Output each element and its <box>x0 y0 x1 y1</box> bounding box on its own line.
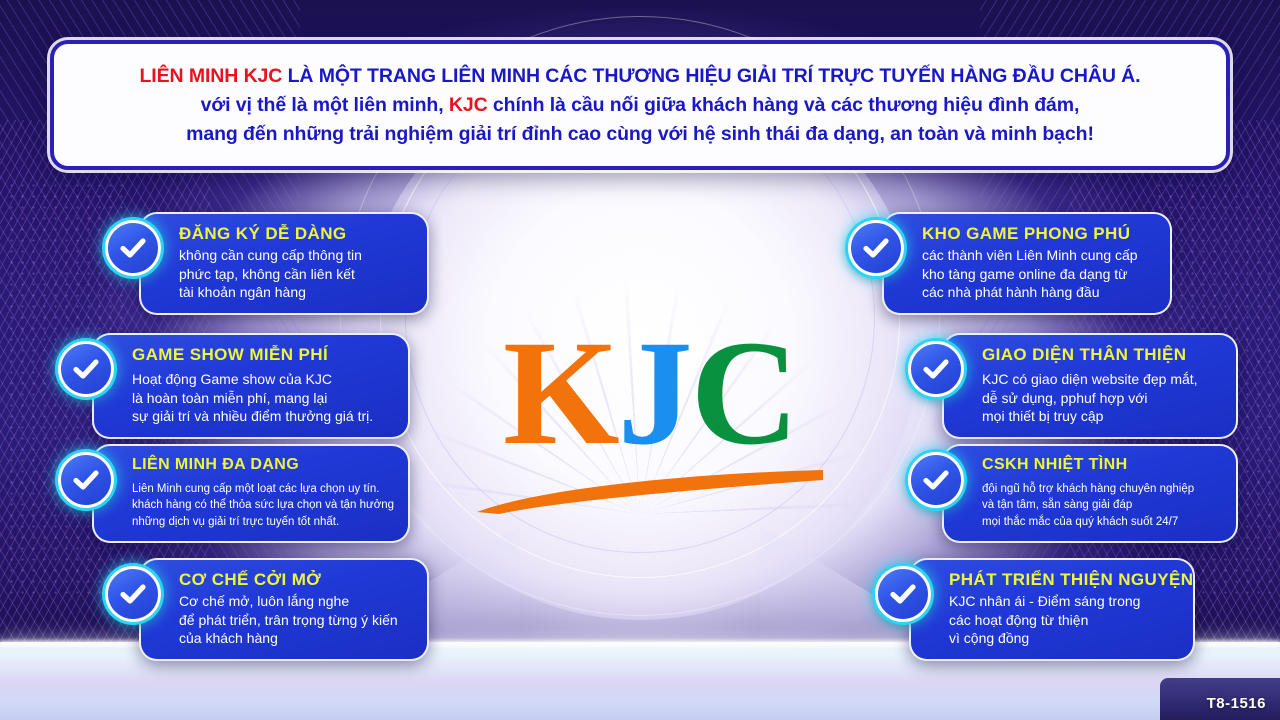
feature-card-giao-dien-than-thien[interactable]: GIAO DIỆN THÂN THIỆN KJC có giao diện we… <box>908 333 1238 439</box>
feature-card-cskh-nhiet-tinh[interactable]: CSKH NHIỆT TÌNH đội ngũ hỗ trợ khách hàn… <box>908 444 1238 543</box>
check-icon <box>908 452 964 508</box>
kjc-logo-text: KJC <box>455 318 845 468</box>
feature-description: Liên Minh cung cấp một loạt các lựa chọn… <box>132 481 392 530</box>
feature-description: Hoạt động Game show của KJClà hoàn toàn … <box>132 370 392 426</box>
feature-card-body: CƠ CHẾ CỞI MỞ Cơ chế mở, luôn lắng ngheđ… <box>139 558 429 661</box>
feature-card-body: GIAO DIỆN THÂN THIỆN KJC có giao diện we… <box>942 333 1238 439</box>
feature-description: KJC có giao diện website đẹp mắt,dễ sử d… <box>982 370 1220 426</box>
feature-card-lien-minh-da-dang[interactable]: LIÊN MINH ĐA DẠNG Liên Minh cung cấp một… <box>58 444 410 543</box>
kjc-logo: KJC <box>455 318 845 518</box>
logo-swoosh-icon <box>475 468 825 514</box>
check-icon <box>875 566 931 622</box>
feature-title: GAME SHOW MIỄN PHÍ <box>132 344 392 365</box>
feature-title: PHÁT TRIỂN THIỆN NGUYỆN <box>949 569 1177 590</box>
feature-description: các thành viên Liên Minh cung cấpkho tàn… <box>922 246 1154 302</box>
feature-card-body: GAME SHOW MIỄN PHÍ Hoạt động Game show c… <box>92 333 410 439</box>
feature-title: CSKH NHIỆT TÌNH <box>982 455 1220 475</box>
feature-card-dang-ky-de-dang[interactable]: ĐĂNG KÝ DỄ DÀNG không cần cung cấp thông… <box>105 212 429 315</box>
feature-description: đội ngũ hỗ trợ khách hàng chuyên nghiệpv… <box>982 481 1220 530</box>
check-icon <box>105 566 161 622</box>
feature-title: ĐĂNG KÝ DỄ DÀNG <box>179 223 411 244</box>
feature-card-game-show-mien-phi[interactable]: GAME SHOW MIỄN PHÍ Hoạt động Game show c… <box>58 333 410 439</box>
logo-letter-c: C <box>691 310 797 476</box>
watermark-code: T8-1516 <box>1207 695 1266 712</box>
check-icon <box>58 452 114 508</box>
feature-title: KHO GAME PHONG PHÚ <box>922 223 1154 244</box>
check-icon <box>848 220 904 276</box>
headline-line-3: mang đến những trải nghiệm giải trí đỉnh… <box>186 123 1094 146</box>
logo-letter-j: J <box>618 310 691 476</box>
logo-letter-k: K <box>503 310 618 476</box>
headline-banner: LIÊN MINH KJC LÀ MỘT TRANG LIÊN MINH CÁC… <box>50 40 1230 170</box>
feature-title: CƠ CHẾ CỞI MỞ <box>179 569 411 590</box>
check-icon <box>105 220 161 276</box>
feature-card-body: PHÁT TRIỂN THIỆN NGUYỆN KJC nhân ái - Đi… <box>909 558 1195 661</box>
feature-card-co-che-coi-mo[interactable]: CƠ CHẾ CỞI MỞ Cơ chế mở, luôn lắng ngheđ… <box>105 558 429 661</box>
feature-card-body: ĐĂNG KÝ DỄ DÀNG không cần cung cấp thông… <box>139 212 429 315</box>
feature-title: GIAO DIỆN THÂN THIỆN <box>982 344 1220 365</box>
feature-card-body: LIÊN MINH ĐA DẠNG Liên Minh cung cấp một… <box>92 444 410 543</box>
check-icon <box>908 341 964 397</box>
headline-line-2: với vị thế là một liên minh, KJC chính l… <box>201 94 1080 117</box>
feature-description: KJC nhân ái - Điểm sáng trongcác hoạt độ… <box>949 592 1177 648</box>
feature-title: LIÊN MINH ĐA DẠNG <box>132 455 392 475</box>
feature-card-phat-trien-thien-nguyen[interactable]: PHÁT TRIỂN THIỆN NGUYỆN KJC nhân ái - Đi… <box>875 558 1195 661</box>
check-icon <box>58 341 114 397</box>
feature-card-body: KHO GAME PHONG PHÚ các thành viên Liên M… <box>882 212 1172 315</box>
headline-line-1: LIÊN MINH KJC LÀ MỘT TRANG LIÊN MINH CÁC… <box>140 65 1141 88</box>
feature-description: không cần cung cấp thông tinphức tạp, kh… <box>179 246 411 302</box>
feature-card-kho-game-phong-phu[interactable]: KHO GAME PHONG PHÚ các thành viên Liên M… <box>848 212 1172 315</box>
feature-description: Cơ chế mở, luôn lắng ngheđể phát triển, … <box>179 592 411 648</box>
feature-card-body: CSKH NHIỆT TÌNH đội ngũ hỗ trợ khách hàn… <box>942 444 1238 543</box>
